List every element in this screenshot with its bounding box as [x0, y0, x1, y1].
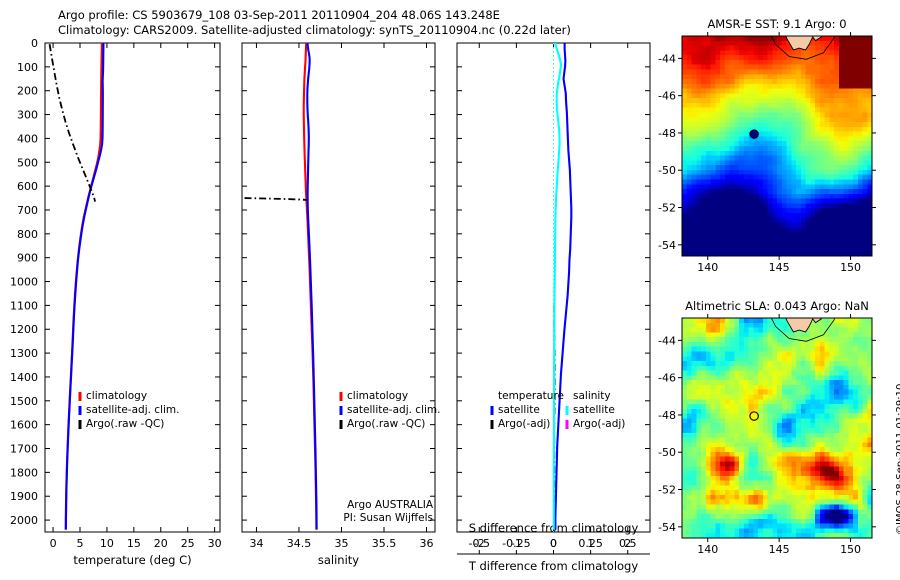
legend-label: Argo(-adj)	[498, 418, 550, 430]
map-x-tick-label: 140	[697, 261, 718, 274]
argo-position-marker[interactable]	[750, 130, 758, 138]
x-tick-label: 34.5	[287, 537, 312, 550]
map-y-tick-label: -44	[658, 334, 676, 347]
x-tick-label: 30	[208, 537, 222, 550]
y-tick-label: 100	[17, 61, 38, 74]
legend-label: climatology	[347, 390, 408, 402]
y-tick-label: 1400	[10, 371, 38, 384]
legend-label: satellite-adj. clim.	[347, 404, 440, 416]
map-y-tick-label: -54	[658, 239, 676, 252]
x-tick-label: 35	[334, 537, 348, 550]
y-tick-label: 1300	[10, 347, 38, 360]
x-tick-label-top: -0.25	[502, 537, 530, 550]
map-y-tick-label: -48	[658, 127, 676, 140]
map-y-tick-label: -48	[658, 409, 676, 422]
amsre-sst-map-panel: AMSR-E SST: 9.1 Argo: 0140145150-44-46-4…	[660, 14, 888, 284]
x-tick-label: 35.5	[372, 537, 397, 550]
y-tick-label: 1000	[10, 276, 38, 289]
y-tick-label: 1100	[10, 299, 38, 312]
x-tick-label: 10	[100, 537, 114, 550]
map-y-tick-label: -50	[658, 164, 676, 177]
x-tick-label: 0	[50, 537, 57, 550]
map-y-tick-label: -52	[658, 202, 676, 215]
map-y-tick-label: -50	[658, 446, 676, 459]
map-title: AMSR-E SST: 9.1 Argo: 0	[707, 17, 846, 31]
legend-label: satellite	[573, 404, 615, 416]
legend-label: satellite	[498, 404, 540, 416]
difference-panel: -2-1012-0.5-0.2500.250.5S difference fro…	[443, 38, 658, 580]
legend-label: climatology	[86, 390, 147, 402]
x-tick-label-top: 0.5	[619, 537, 637, 550]
x-axis-label: temperature (deg C)	[73, 553, 191, 567]
map-x-tick-label: 145	[769, 261, 790, 274]
map-title: Altimetric SLA: 0.043 Argo: NaN	[685, 299, 869, 313]
temperature-panel: 0100200300400500600700800900100011001200…	[0, 38, 228, 580]
altimetric-sla-map-panel: Altimetric SLA: 0.043 Argo: NaN140145150…	[660, 296, 888, 566]
y-tick-label: 0	[31, 37, 38, 50]
x-axis-label: T difference from climatology	[468, 559, 639, 573]
map-y-tick-label: -54	[658, 521, 676, 534]
y-tick-label: 200	[17, 85, 38, 98]
map-x-tick-label: 150	[840, 543, 861, 556]
map-y-tick-label: -46	[658, 372, 676, 385]
plot-frame	[45, 43, 220, 532]
y-tick-label: 800	[17, 228, 38, 241]
map-x-tick-label: 145	[769, 543, 790, 556]
salinity-panel: 3434.53535.536salinityclimatologysatelli…	[228, 38, 443, 580]
y-tick-label: 1700	[10, 443, 38, 456]
legend-header: temperature	[498, 390, 564, 402]
y-tick-label: 700	[17, 204, 38, 217]
x-tick-label: 34	[249, 537, 263, 550]
y-tick-label: 400	[17, 132, 38, 145]
y-tick-label: 1600	[10, 419, 38, 432]
y-tick-label: 600	[17, 180, 38, 193]
y-tick-label: 1200	[10, 323, 38, 336]
plot-frame	[242, 43, 435, 532]
y-tick-label: 900	[17, 252, 38, 265]
x-tick-label: 36	[419, 537, 433, 550]
figure-root: Argo profile: CS 5903679_108 03-Sep-2011…	[0, 0, 900, 580]
title-line-2: Climatology: CARS2009. Satellite-adjuste…	[58, 23, 571, 37]
x-tick-label: 20	[154, 537, 168, 550]
attribution-line-1: Argo AUSTRALIA	[347, 499, 434, 511]
legend-label: Argo(-adj)	[573, 418, 625, 430]
x-tick-label-top: -0.5	[469, 537, 490, 550]
y-tick-label: 300	[17, 109, 38, 122]
legend-label: Argo(.raw -QC)	[347, 418, 425, 430]
x-tick-label: 25	[181, 537, 195, 550]
y-tick-label: 1900	[10, 490, 38, 503]
y-tick-label: 1500	[10, 395, 38, 408]
map-x-tick-label: 150	[840, 261, 861, 274]
map-y-tick-label: -52	[658, 484, 676, 497]
x-axis-label: salinity	[318, 553, 359, 567]
y-tick-label: 2000	[10, 514, 38, 527]
legend-header: salinity	[573, 390, 611, 402]
map-field	[682, 36, 873, 257]
legend-label: satellite-adj. clim.	[86, 404, 179, 416]
credit-block: ©IMOS 28-Sep-2011 01:29:10	[884, 360, 898, 540]
x-tick-label: 15	[127, 537, 141, 550]
y-tick-label: 1800	[10, 466, 38, 479]
map-x-tick-label: 140	[697, 543, 718, 556]
attribution-line-2: PI: Susan Wijffels	[343, 512, 433, 524]
credit-text: ©IMOS 28-Sep-2011 01:29:10	[895, 384, 900, 535]
title-line-1: Argo profile: CS 5903679_108 03-Sep-2011…	[58, 8, 500, 22]
map-y-tick-label: -46	[658, 90, 676, 103]
x-tick-label-top: 0	[550, 537, 557, 550]
map-y-tick-label: -44	[658, 52, 676, 65]
y-tick-label: 500	[17, 156, 38, 169]
legend-label: Argo(.raw -QC)	[86, 418, 164, 430]
x-tick-label-top: 0.25	[578, 537, 603, 550]
map-field	[682, 318, 873, 539]
x-tick-label: 5	[77, 537, 84, 550]
